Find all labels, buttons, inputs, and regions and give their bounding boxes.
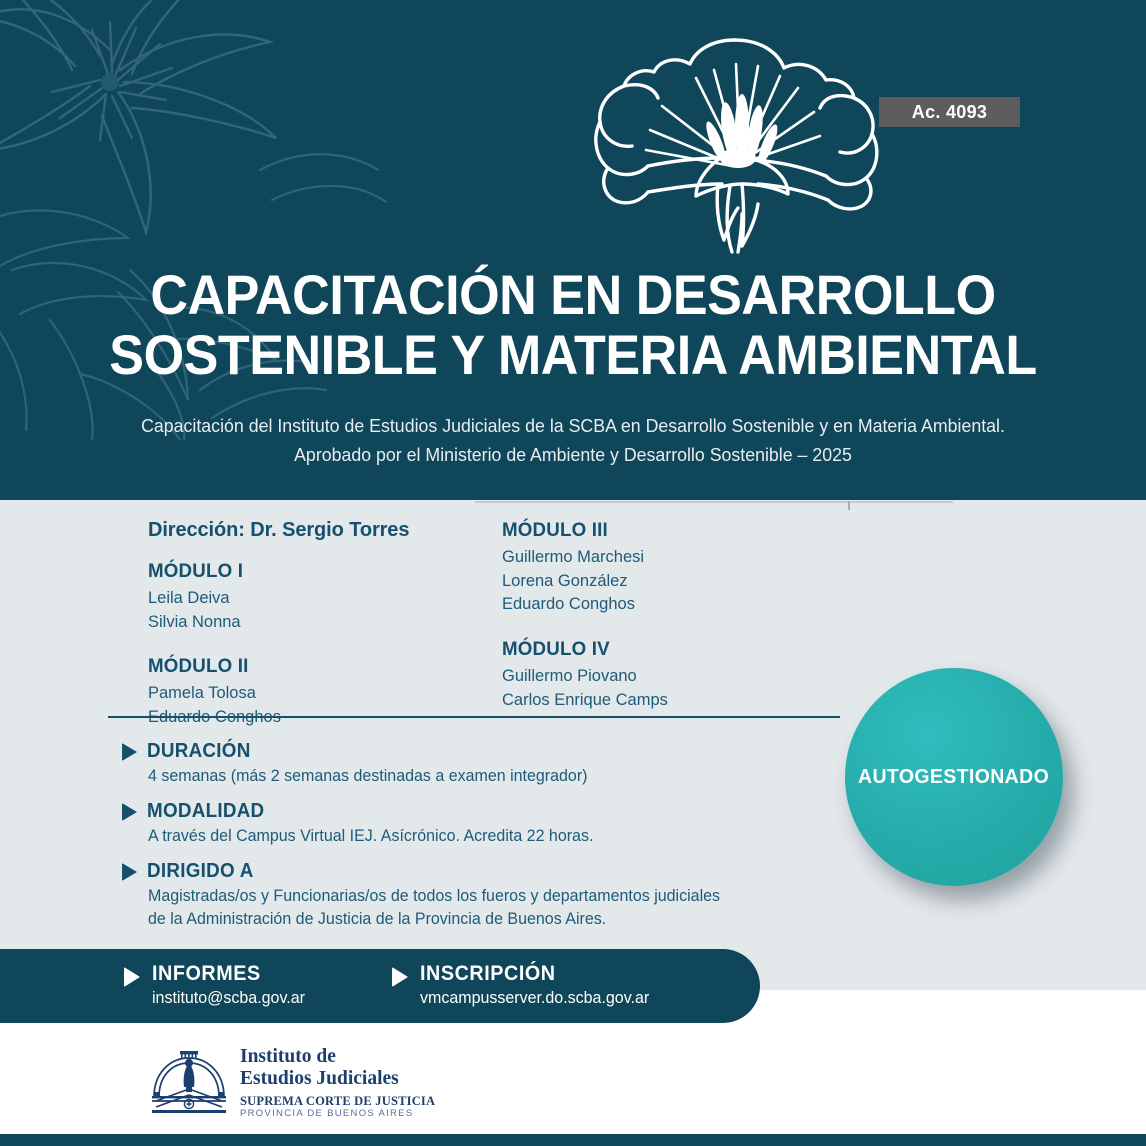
triangle-bullet-icon — [392, 967, 408, 987]
contact-bar: INFORMES instituto@scba.gov.ar INSCRIPCI… — [0, 949, 760, 1023]
page-subtitle: Capacitación del Instituto de Estudios J… — [23, 412, 1123, 469]
logo-line-4: PROVINCIA DE BUENOS AIRES — [240, 1109, 435, 1119]
module-person: Carlos Enrique Camps — [502, 688, 842, 712]
subtitle-line-1: Capacitación del Instituto de Estudios J… — [23, 412, 1123, 441]
panel-top-rule-tick — [848, 501, 850, 510]
triangle-bullet-icon — [122, 743, 137, 761]
page-title: CAPACITACIÓN EN DESARROLLO SOSTENIBLE Y … — [40, 265, 1106, 386]
detail-label: DIRIGIDO A — [147, 860, 254, 883]
bottom-accent-bar — [0, 1134, 1146, 1146]
module-person: Guillermo Marchesi — [502, 545, 842, 569]
staff-column-left: Dirección: Dr. Sergio Torres MÓDULO I Le… — [148, 519, 478, 729]
detail-text: A través del Campus Virtual IEJ. Asícrón… — [148, 825, 593, 848]
detail-heading: MODALIDAD — [122, 800, 607, 823]
logo-text: Instituto de Estudios Judiciales SUPREMA… — [240, 1046, 435, 1119]
title-line-1: CAPACITACIÓN EN DESARROLLO — [40, 265, 1106, 325]
poster-root: Ac. 4093 CAPACITACIÓN EN DESARROLLO SOST… — [0, 0, 1146, 1146]
detail-text-line-2: de la Administración de Justicia de la P… — [148, 908, 720, 931]
detail-modalidad: MODALIDAD A través del Campus Virtual IE… — [122, 800, 607, 848]
triangle-bullet-icon — [122, 803, 137, 821]
logo-line-1: Instituto de — [240, 1046, 435, 1068]
logo-line-3: SUPREMA CORTE DE JUSTICIA — [240, 1095, 435, 1108]
module-person: Lorena González — [502, 569, 842, 593]
detail-heading: DIRIGIDO A — [122, 860, 738, 883]
module-block-3: MÓDULO III Guillermo Marchesi Lorena Gon… — [502, 519, 852, 616]
detail-dirigido-a: DIRIGIDO A Magistradas/os y Funcionarias… — [122, 860, 738, 932]
courthouse-arch-emblem-icon — [150, 1049, 228, 1115]
accordada-badge: Ac. 4093 — [879, 97, 1020, 127]
informes-label: INFORMES — [152, 962, 300, 986]
subtitle-line-2: Aprobado por el Ministerio de Ambiente y… — [23, 441, 1123, 470]
module-title: MÓDULO IV — [502, 638, 838, 661]
title-line-2: SOSTENIBLE Y MATERIA AMBIENTAL — [40, 325, 1106, 385]
inscripcion-label: INSCRIPCIÓN — [420, 962, 642, 986]
module-title: MÓDULO II — [148, 655, 465, 678]
autogestionado-label: AUTOGESTIONADO — [858, 765, 1049, 789]
module-person: Guillermo Piovano — [502, 664, 842, 688]
detail-label: MODALIDAD — [147, 800, 264, 823]
direccion-label: Dirección: Dr. Sergio Torres — [148, 519, 478, 542]
header-banner: Ac. 4093 CAPACITACIÓN EN DESARROLLO SOST… — [0, 0, 1146, 500]
flower-illustration-icon — [592, 26, 882, 261]
module-title: MÓDULO III — [502, 519, 838, 542]
detail-duracion: DURACIÓN 4 semanas (más 2 semanas destin… — [122, 740, 601, 788]
staff-column-right: MÓDULO III Guillermo Marchesi Lorena Gon… — [502, 519, 852, 711]
contact-inscripcion: INSCRIPCIÓN vmcampusserver.do.scba.gov.a… — [392, 962, 656, 1011]
contact-informes: INFORMES instituto@scba.gov.ar — [124, 962, 310, 1011]
autogestionado-badge: AUTOGESTIONADO — [845, 668, 1063, 886]
triangle-bullet-icon — [122, 863, 137, 881]
detail-label: DURACIÓN — [147, 740, 251, 763]
inscripcion-url[interactable]: vmcampusserver.do.scba.gov.ar — [420, 986, 649, 1011]
informes-email[interactable]: instituto@scba.gov.ar — [152, 986, 305, 1011]
detail-text-line-1: Magistradas/os y Funcionarias/os de todo… — [148, 885, 720, 908]
panel-top-rule — [475, 501, 953, 503]
triangle-bullet-icon — [124, 967, 140, 987]
detail-text: 4 semanas (más 2 semanas destinadas a ex… — [148, 765, 587, 788]
module-person: Pamela Tolosa — [148, 681, 468, 705]
module-title: MÓDULO I — [148, 560, 465, 583]
module-block-4: MÓDULO IV Guillermo Piovano Carlos Enriq… — [502, 638, 852, 711]
module-block-1: MÓDULO I Leila Deiva Silvia Nonna — [148, 560, 478, 633]
iej-logo: Instituto de Estudios Judiciales SUPREMA… — [150, 1046, 435, 1119]
section-divider — [108, 716, 840, 718]
module-person: Silvia Nonna — [148, 610, 468, 634]
logo-line-2: Estudios Judiciales — [240, 1068, 435, 1090]
module-person: Eduardo Conghos — [502, 592, 842, 616]
module-person: Leila Deiva — [148, 586, 468, 610]
detail-heading: DURACIÓN — [122, 740, 601, 763]
